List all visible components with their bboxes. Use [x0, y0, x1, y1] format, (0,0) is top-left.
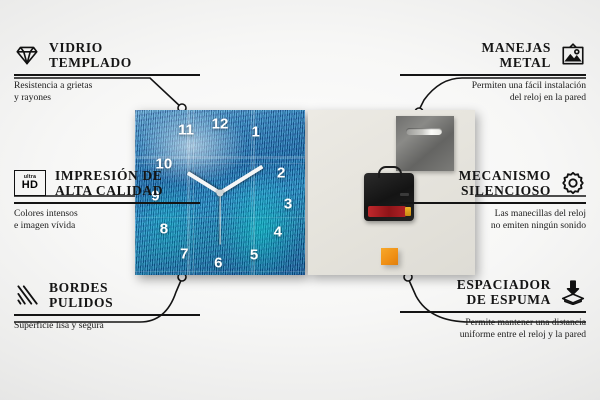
callout-metal-hangers: MANEJASMETAL Permiten una fácil instalac…	[400, 40, 586, 105]
badge-hd-label: HD	[22, 180, 39, 191]
clock-hands-hub	[217, 189, 224, 196]
callout-title: IMPRESIÓN DEALTA CALIDAD	[55, 168, 163, 198]
clock-numeral-12: 12	[212, 117, 229, 132]
metal-hanger-plate	[396, 116, 454, 171]
clock-numeral-2: 2	[277, 165, 285, 180]
callout-polished-edges: BORDESPULIDOS Superficie lisa y segura	[14, 280, 200, 332]
arrow-into-stack-icon	[560, 279, 586, 305]
callout-header: ultra HD IMPRESIÓN DEALTA CALIDAD	[14, 168, 200, 198]
callout-description: Las manecillas del relojno emiten ningún…	[400, 208, 586, 233]
callout-header: ESPACIADORDE ESPUMA	[400, 277, 586, 307]
diagonal-lines-icon	[14, 282, 40, 308]
callout-title: VIDRIOTEMPLADO	[49, 40, 132, 70]
callout-divider	[400, 74, 586, 76]
callout-divider	[14, 74, 200, 76]
second-hand	[219, 193, 220, 245]
callout-tempered-glass: VIDRIOTEMPLADO Resistencia a grietasy ra…	[14, 40, 200, 105]
callout-silent-mechanism: MECANISMOSILENCIOSO Las manecillas del r…	[400, 168, 586, 233]
callout-header: MANEJASMETAL	[400, 40, 586, 70]
callout-hd-printing: ultra HD IMPRESIÓN DEALTA CALIDAD Colore…	[14, 168, 200, 233]
callout-header: BORDESPULIDOS	[14, 280, 200, 310]
callout-description: Resistencia a grietasy rayones	[14, 80, 200, 105]
clock-numeral-3: 3	[284, 197, 292, 212]
callout-divider	[14, 314, 200, 316]
callout-description: Superficie lisa y segura	[14, 320, 200, 333]
callout-description: Permiten una fácil instalacióndel reloj …	[400, 80, 586, 105]
callout-title: BORDESPULIDOS	[49, 280, 113, 310]
callout-divider	[400, 202, 586, 204]
picture-frame-icon	[560, 42, 586, 68]
clock-numeral-11: 11	[178, 123, 194, 138]
clock-numeral-7: 7	[180, 246, 188, 261]
clock-numeral-6: 6	[214, 256, 222, 271]
callout-title: MANEJASMETAL	[482, 40, 551, 70]
clock-numeral-1: 1	[252, 125, 260, 140]
foam-spacer	[381, 248, 398, 265]
clock-numeral-5: 5	[250, 248, 258, 263]
callout-divider	[14, 202, 200, 204]
hanger-slot	[406, 128, 442, 135]
infographic-canvas: 12 1 2 3 4 5 6 7 8 9 10 11	[0, 0, 600, 400]
mechanism-hook	[378, 166, 402, 178]
callout-foam-spacer: ESPACIADORDE ESPUMA Permite mantener una…	[400, 277, 586, 342]
clock-numeral-4: 4	[274, 225, 282, 240]
callout-description: Colores intensose imagen vívida	[14, 208, 200, 233]
callout-header: VIDRIOTEMPLADO	[14, 40, 200, 70]
callout-title: ESPACIADORDE ESPUMA	[457, 277, 551, 307]
ultra-hd-badge-icon: ultra HD	[14, 170, 46, 196]
diamond-icon	[14, 42, 40, 68]
callout-description: Permite mantener una distanciauniforme e…	[400, 317, 586, 342]
gear-icon	[560, 170, 586, 196]
callout-header: MECANISMOSILENCIOSO	[400, 168, 586, 198]
callout-divider	[400, 311, 586, 313]
callout-title: MECANISMOSILENCIOSO	[459, 168, 551, 198]
